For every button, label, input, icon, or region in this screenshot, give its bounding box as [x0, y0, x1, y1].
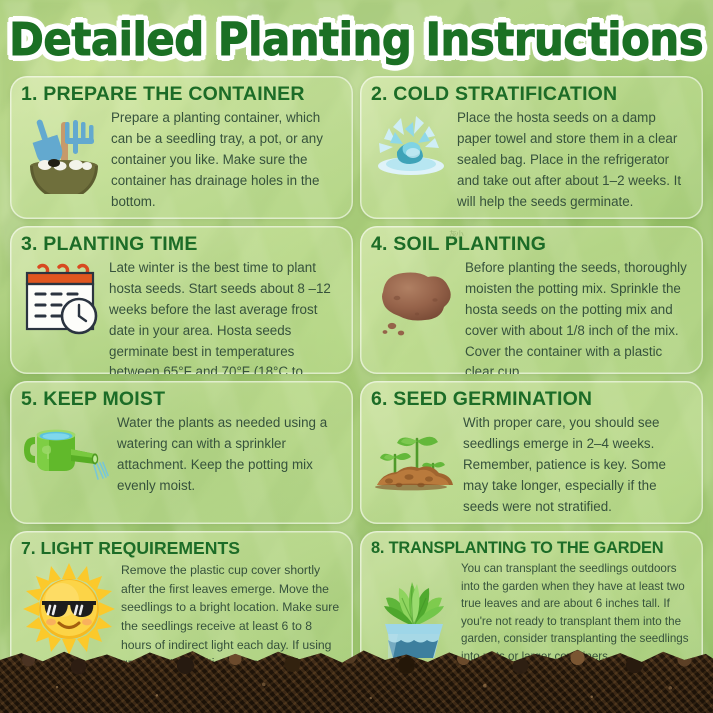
step-heading-1: 1. PREPARE THE CONTAINER — [21, 84, 342, 105]
step-text-1: Prepare a planting container, which can … — [111, 108, 342, 212]
step-text-6: With proper care, you should see seedlin… — [463, 413, 692, 517]
step-text-4: Before planting the seeds, thoroughly mo… — [465, 258, 692, 374]
soil-strip — [0, 645, 713, 713]
calendar-clock-icon — [21, 258, 105, 344]
step-card-1: 1. PREPARE THE CONTAINER — [10, 76, 353, 219]
title-banner: Detailed Planting Instructions — [0, 6, 713, 72]
step-heading-2: 2. COLD STRATIFICATION — [371, 84, 692, 105]
step-card-5: 5. KEEP MOIST — [10, 381, 353, 524]
step-heading-4: 4. SOIL PLANTING — [371, 234, 692, 255]
step-card-4: 灰小 4. SOIL PLANTING — [360, 226, 703, 374]
steps-grid: 1. PREPARE THE CONTAINER — [10, 76, 703, 683]
page-title: Detailed Planting Instructions — [9, 13, 703, 66]
soil-specks — [0, 645, 713, 713]
step-card-3: 3. PLANTING TIME — [10, 226, 353, 374]
step-heading-7: 7. LIGHT REQUIREMENTS — [21, 539, 342, 558]
step-text-5: Water the plants as needed using a water… — [117, 413, 342, 496]
step-heading-3: 3. PLANTING TIME — [21, 234, 342, 255]
step-text-3: Late winter is the best time to plant ho… — [109, 258, 342, 374]
step-text-2: Place the hosta seeds on a damp paper to… — [457, 108, 692, 212]
water-splash-icon — [371, 108, 453, 188]
step-heading-5: 5. KEEP MOIST — [21, 389, 342, 410]
soil-patch-icon — [371, 258, 461, 342]
watering-can-icon — [21, 413, 113, 491]
seedling-sprout-icon — [371, 413, 459, 497]
step-heading-6: 6. SEED GERMINATION — [371, 389, 692, 410]
pot-with-tools-icon — [21, 108, 107, 194]
step-heading-8: 8. TRANSPLANTING TO THE GARDEN — [371, 539, 692, 557]
step-card-6: 6. SEED GERMINATION — [360, 381, 703, 524]
sun-sunglasses-icon — [21, 561, 117, 657]
step-card-2: 2. COLD STRATIFICATION — [360, 76, 703, 219]
